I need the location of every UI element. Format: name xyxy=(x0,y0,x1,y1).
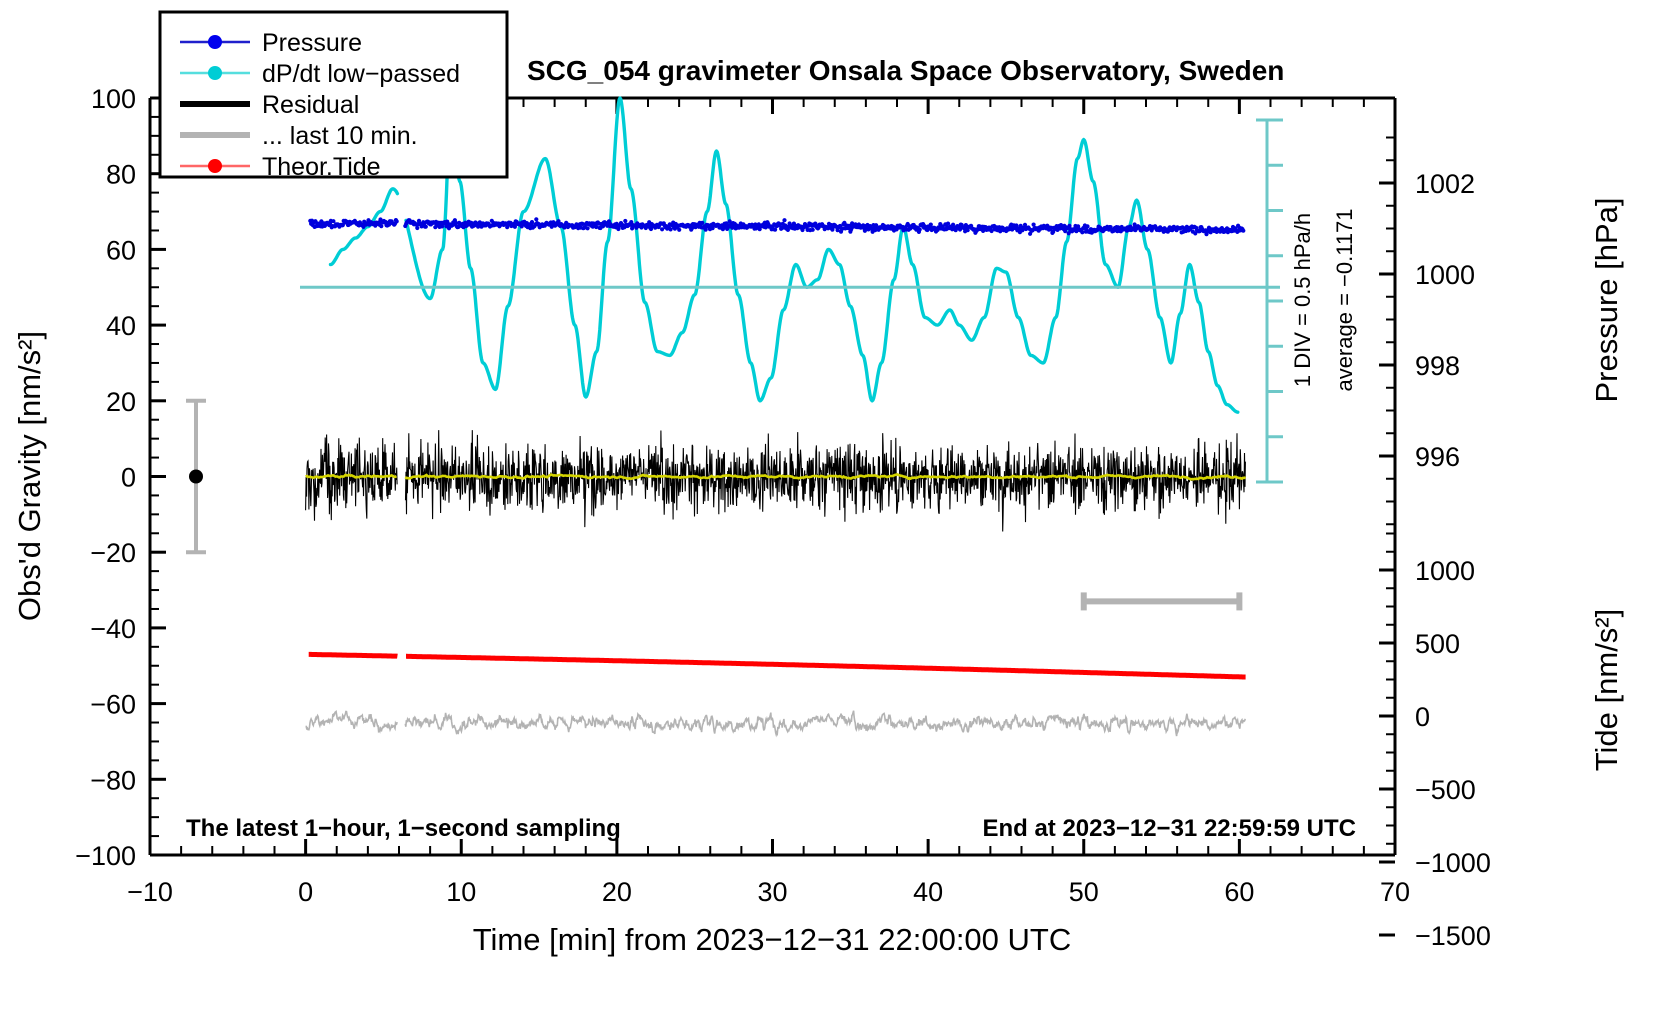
legend-marker xyxy=(208,159,222,173)
y-tick-label: 80 xyxy=(106,160,136,190)
legend-label: Residual xyxy=(262,91,359,119)
x-tick-label: 20 xyxy=(602,877,632,907)
legend-marker xyxy=(208,66,222,80)
pressure-tick-label: 998 xyxy=(1415,351,1460,381)
y-tick-label: 60 xyxy=(106,235,136,265)
x-tick-label: 40 xyxy=(913,877,943,907)
pressure-tick-label: 996 xyxy=(1415,442,1460,472)
x-tick-label: 60 xyxy=(1224,877,1254,907)
legend-label: Pressure xyxy=(262,29,362,57)
legend-marker xyxy=(208,35,222,49)
tide-tick-label: −500 xyxy=(1415,775,1476,805)
y-tick-label: 20 xyxy=(106,387,136,417)
y-tick-label: 0 xyxy=(121,463,136,493)
x-tick-label: 10 xyxy=(446,877,476,907)
pressure-tick-label: 1000 xyxy=(1415,260,1475,290)
y-axis-left-title: Obs'd Gravity [nm/s²] xyxy=(12,331,47,621)
x-tick-label: 50 xyxy=(1069,877,1099,907)
page-title: SCG_054 gravimeter Onsala Space Observat… xyxy=(527,55,1284,86)
y-tick-label: −80 xyxy=(90,765,136,795)
y-tick-label: 40 xyxy=(106,311,136,341)
y-axis-tide-title: Tide [nm/s²] xyxy=(1589,609,1624,772)
y-tick-label: −40 xyxy=(90,614,136,644)
y-tick-label: 100 xyxy=(91,84,136,114)
y-tick-label: −100 xyxy=(75,841,136,871)
footer-right: End at 2023−12−31 22:59:59 UTC xyxy=(982,815,1356,842)
pressure-tick-label: 1002 xyxy=(1415,169,1475,199)
legend[interactable]: PressuredP/dt low−passedResidual... last… xyxy=(160,12,507,181)
average-label: average = −0.1171 xyxy=(1332,208,1357,391)
gravimeter-plot: −100−80−60−40−20020406080100 −1001020304… xyxy=(0,0,1660,1020)
footer-left: The latest 1−hour, 1−second sampling xyxy=(186,815,621,842)
y-axis-pressure-title: Pressure [hPa] xyxy=(1589,197,1624,402)
tide-tick-label: 1000 xyxy=(1415,556,1475,586)
chart-canvas: −100−80−60−40−20020406080100 −1001020304… xyxy=(0,0,1660,1020)
tide-tick-label: 500 xyxy=(1415,629,1460,659)
x-tick-label: 30 xyxy=(757,877,787,907)
y-tick-label: −20 xyxy=(90,538,136,568)
tide-tick-label: −1000 xyxy=(1415,848,1491,878)
legend-label: dP/dt low−passed xyxy=(262,60,460,88)
tide-tick-label: 0 xyxy=(1415,702,1430,732)
x-tick-label: 70 xyxy=(1380,877,1410,907)
div-scale-label: 1 DIV = 0.5 hPa/h xyxy=(1290,213,1315,387)
x-tick-label: 0 xyxy=(298,877,313,907)
legend-label: Theor.Tide xyxy=(262,153,381,181)
x-tick-label: −10 xyxy=(127,877,173,907)
y-tick-label: −60 xyxy=(90,690,136,720)
legend-label: ... last 10 min. xyxy=(262,122,418,150)
tide-tick-label: −1500 xyxy=(1415,921,1491,951)
x-axis-title: Time [min] from 2023−12−31 22:00:00 UTC xyxy=(473,922,1072,957)
